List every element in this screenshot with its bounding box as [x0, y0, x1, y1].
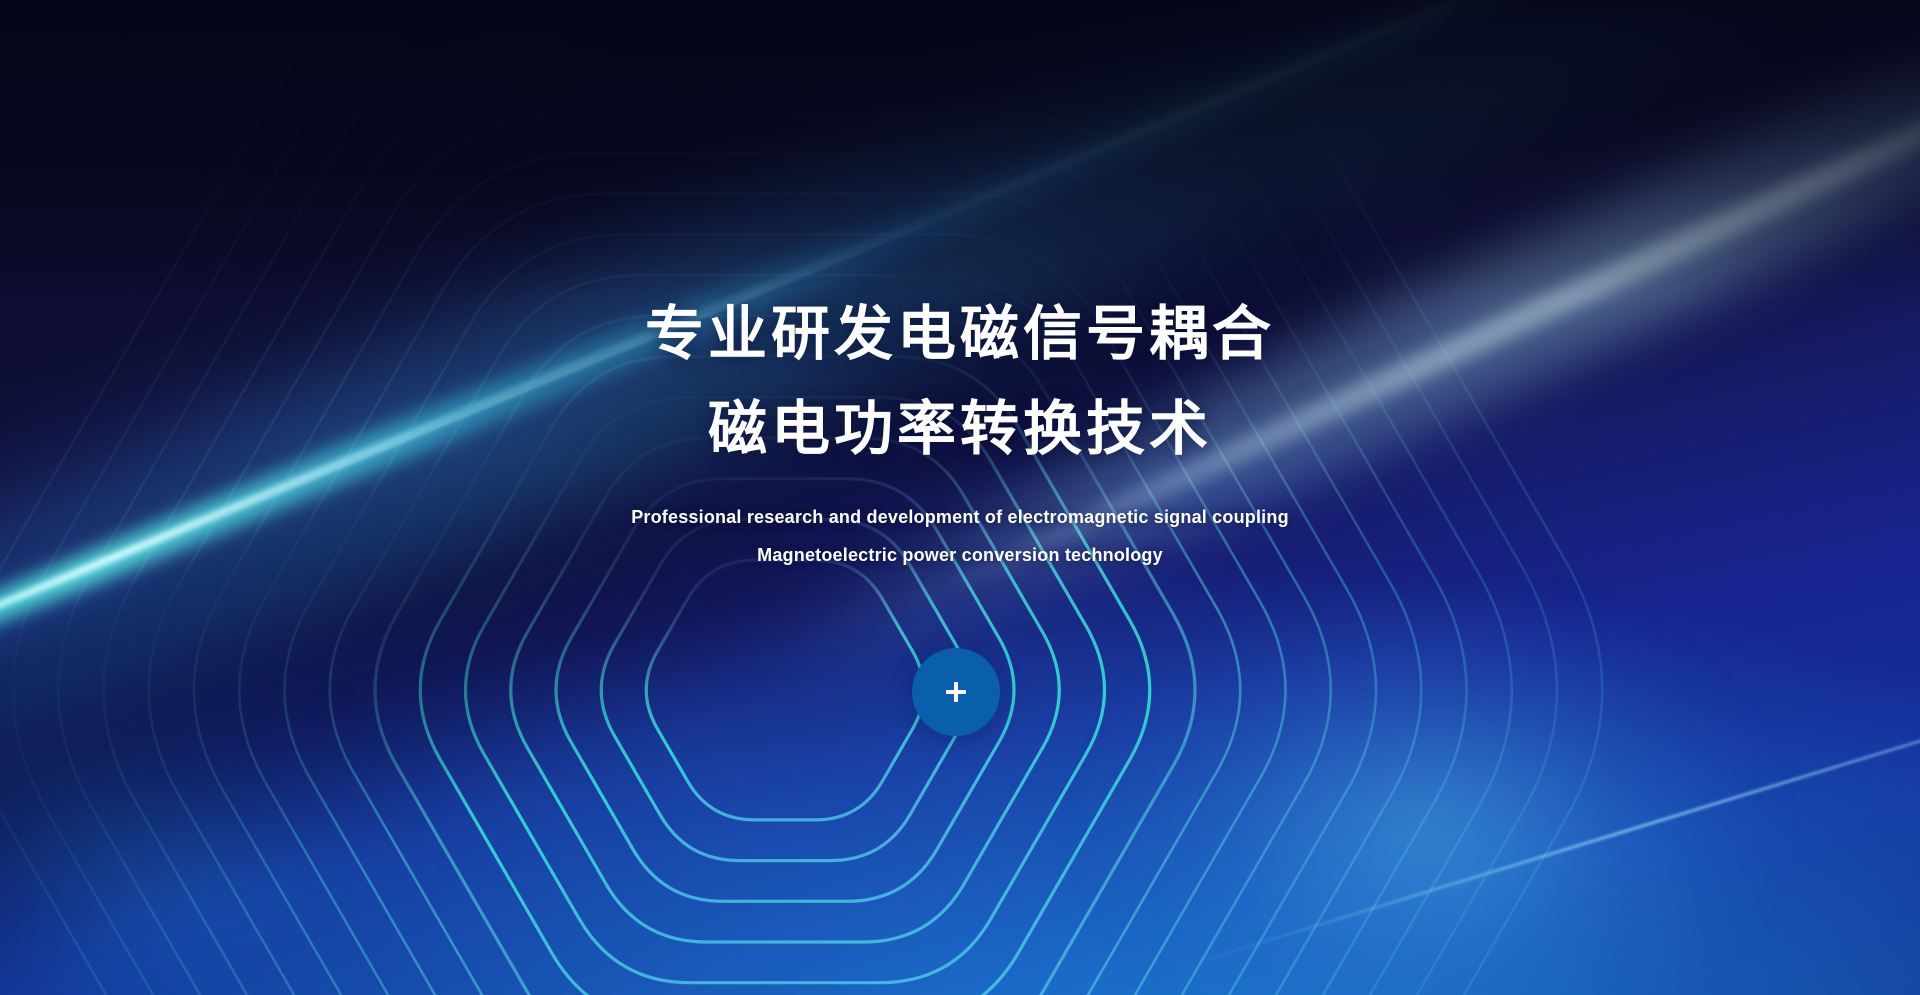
banner-headline: 专业研发电磁信号耦合 磁电功率转换技术 — [0, 287, 1920, 477]
beam-hairline-upper — [0, 116, 1186, 692]
left-glow — [0, 640, 500, 995]
headline-line-1: 专业研发电磁信号耦合 — [0, 287, 1920, 382]
hexagon-rings-decoration — [0, 0, 1920, 995]
bottom-right-glow — [980, 520, 1880, 995]
top-vignette — [0, 0, 1920, 995]
beam-main-core — [0, 0, 1920, 758]
beam-shadow-wedge — [0, 109, 1411, 995]
beam-upper-right-core — [895, 0, 1920, 621]
beam-hairline-lower — [1150, 653, 1920, 977]
beam-upper-right — [733, 0, 1920, 724]
banner-content: 专业研发电磁信号耦合 磁电功率转换技术 Professional researc… — [0, 0, 1920, 995]
plus-icon — [945, 681, 967, 703]
hero-banner: 专业研发电磁信号耦合 磁电功率转换技术 Professional researc… — [0, 0, 1920, 995]
banner-subtitle: Professional research and development of… — [0, 498, 1920, 574]
beam-soft-wash — [0, 0, 1920, 892]
headline-line-2: 磁电功率转换技术 — [0, 382, 1920, 477]
light-beams-decoration — [0, 0, 1920, 995]
subtitle-line-2: Magnetoelectric power conversion technol… — [0, 536, 1920, 574]
expand-plus-button[interactable] — [912, 648, 1000, 736]
subtitle-line-1: Professional research and development of… — [0, 498, 1920, 536]
